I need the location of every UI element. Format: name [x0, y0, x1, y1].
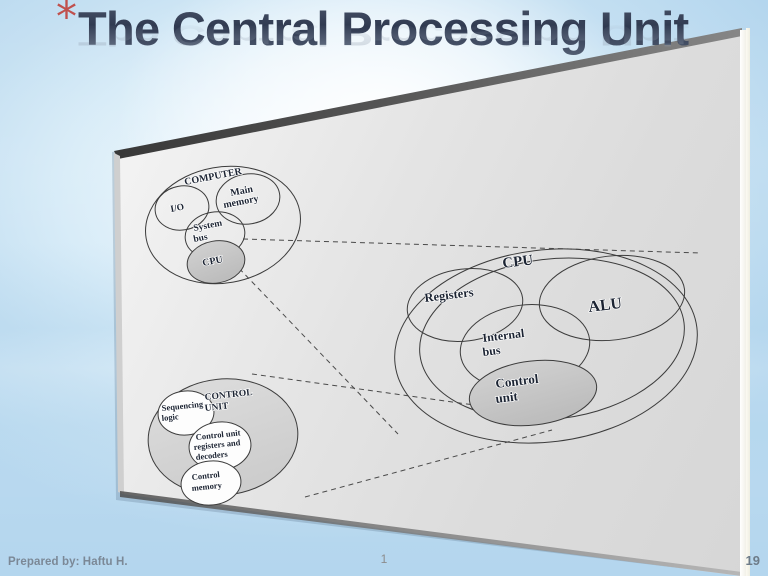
slide-panel	[0, 0, 768, 576]
footer-slide-number: 19	[746, 553, 760, 568]
panel-right-rim-outer	[746, 28, 750, 576]
footer-page-number: 1	[0, 552, 768, 566]
presentation-slide: COMPUTER I/O Main memory System bus CPU …	[0, 0, 768, 576]
